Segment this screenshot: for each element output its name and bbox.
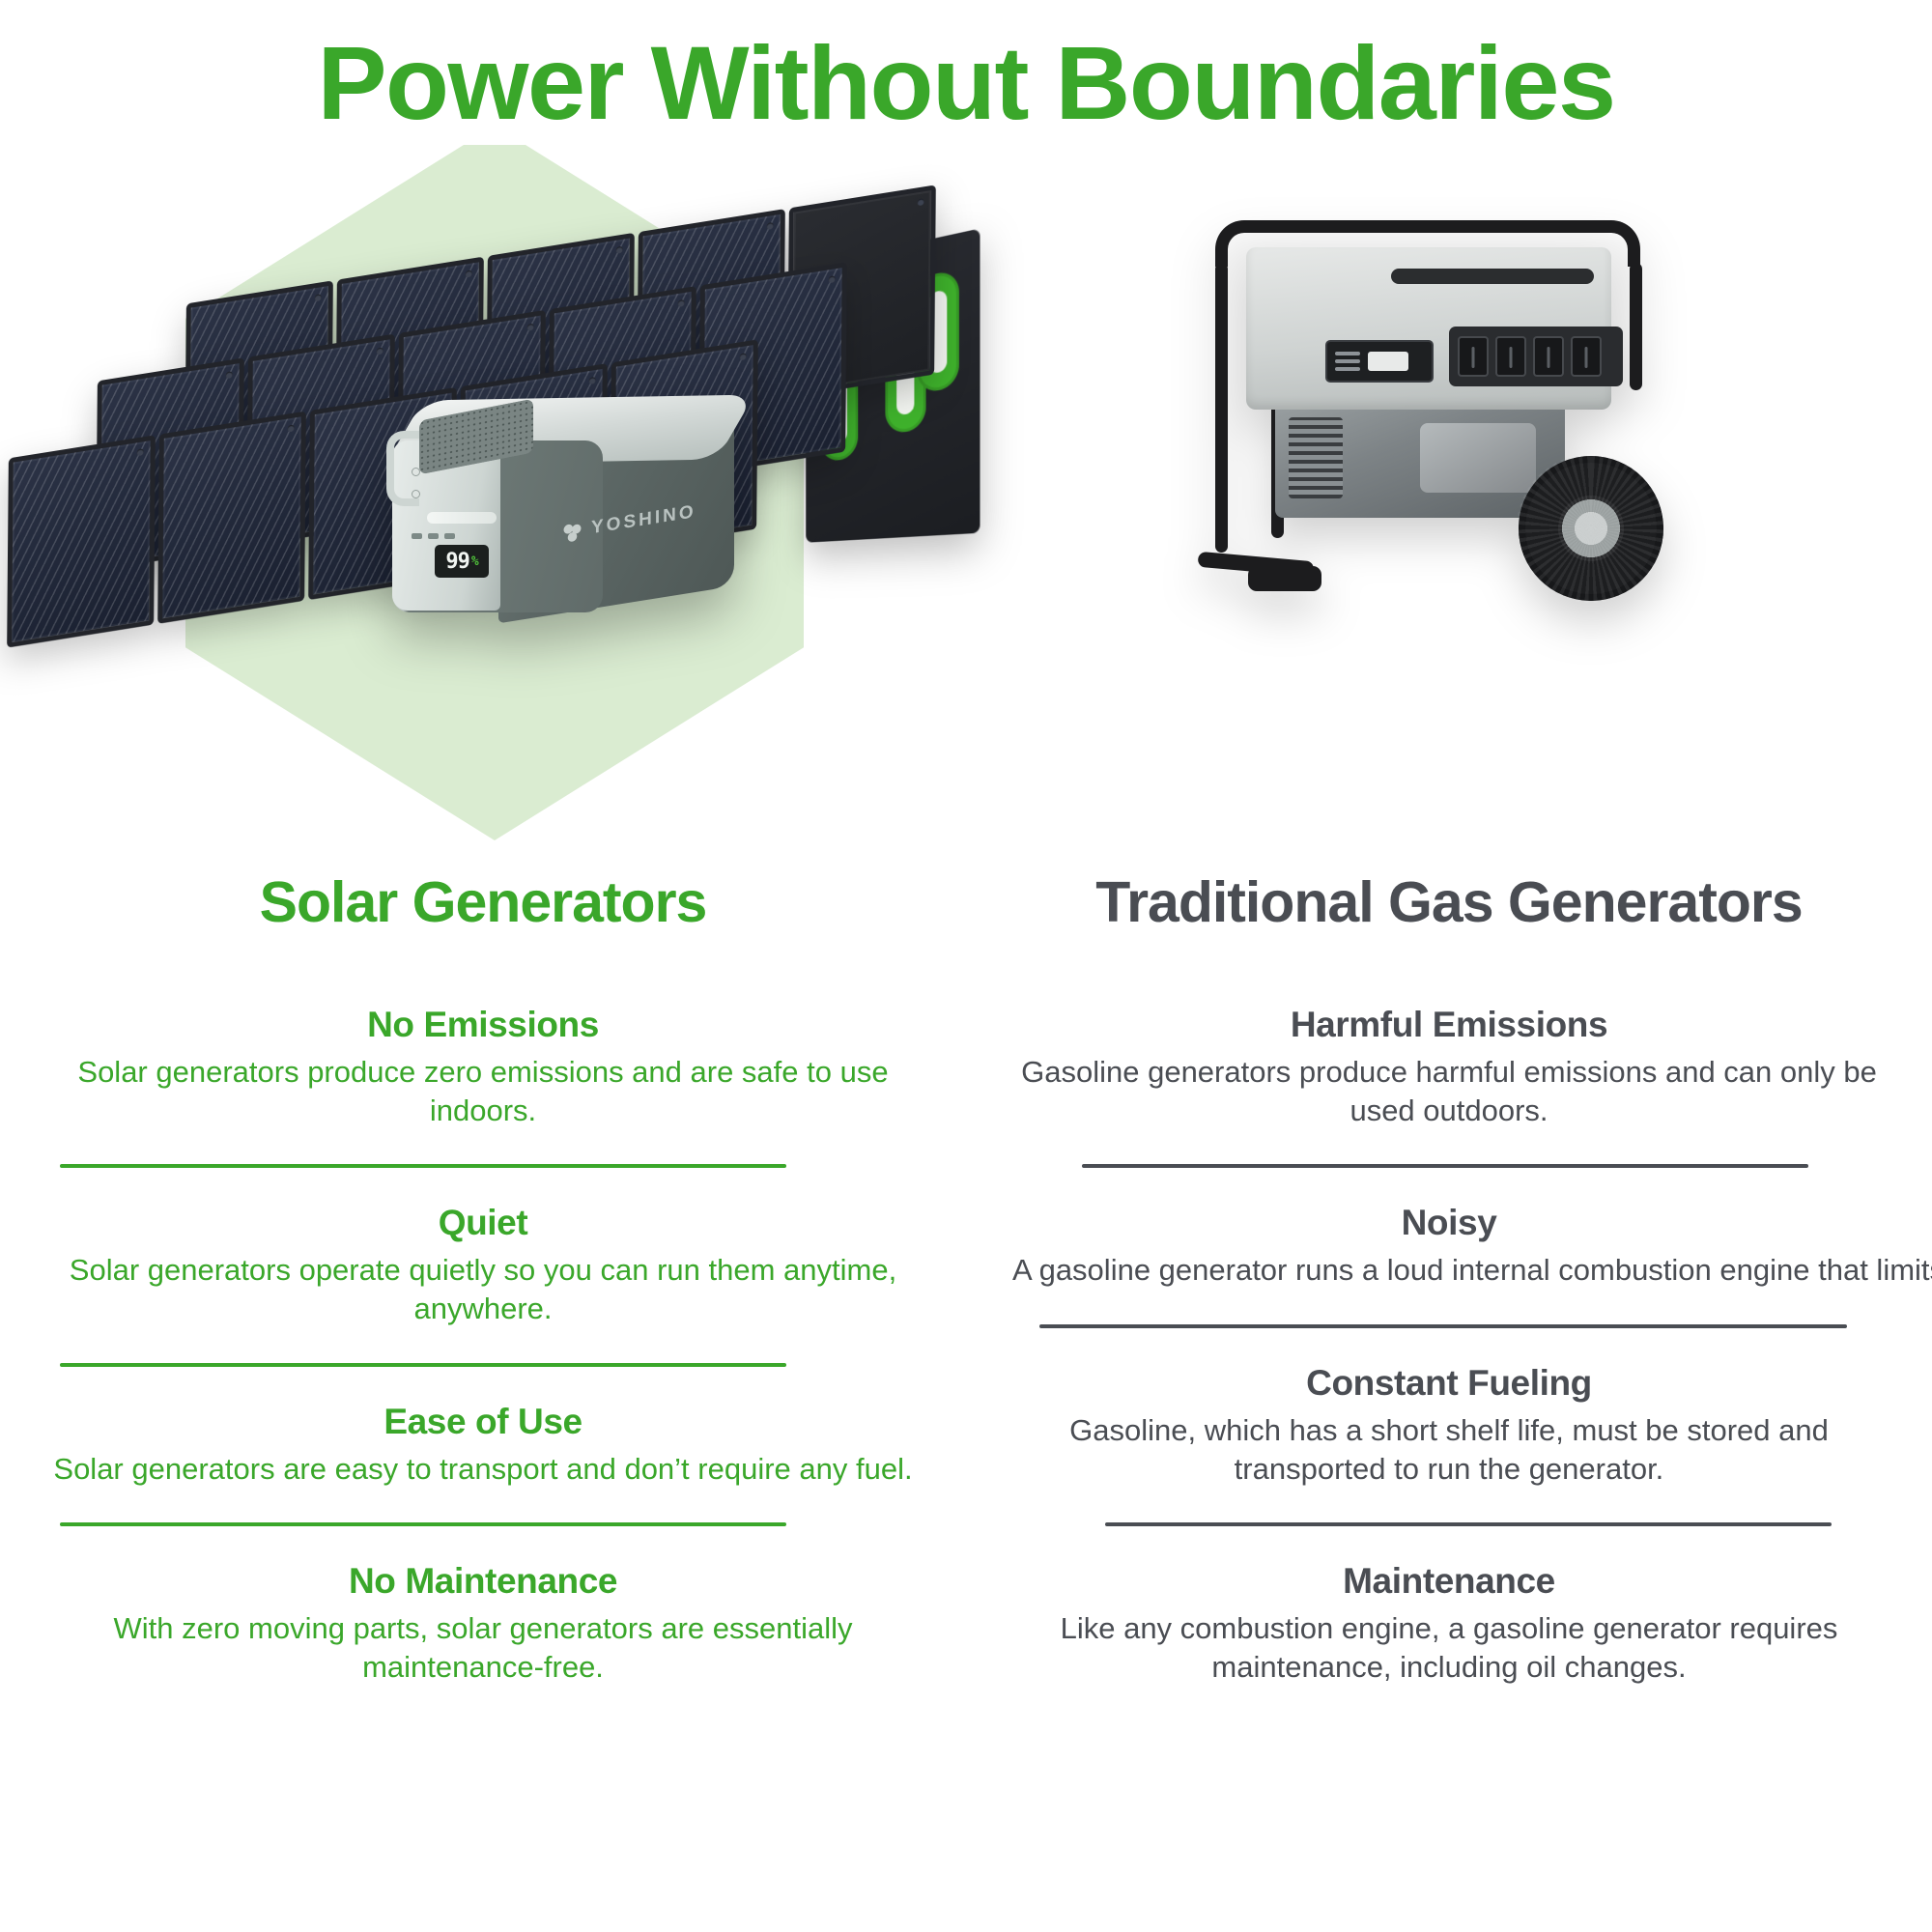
infographic-page: Power Without Boundaries bbox=[0, 0, 1932, 1932]
column-heading-gas: Traditional Gas Generators bbox=[1012, 869, 1886, 935]
feature-description: Solar generators operate quietly so you … bbox=[46, 1251, 920, 1327]
generator-control-gauge bbox=[1325, 340, 1434, 383]
feature-description: With zero moving parts, solar generators… bbox=[46, 1609, 920, 1686]
feature-divider bbox=[1105, 1522, 1832, 1526]
feature-title: No Emissions bbox=[46, 1005, 920, 1045]
feature-gas-harmful-emissions: Harmful Emissions Gasoline generators pr… bbox=[1012, 1005, 1886, 1129]
power-station-usb-ports bbox=[412, 533, 455, 539]
power-station-handle-icon bbox=[386, 431, 419, 506]
power-outlet-icon bbox=[1533, 336, 1564, 377]
generator-frame-leg bbox=[1215, 263, 1228, 553]
power-station-battery-display: 99 % bbox=[435, 545, 489, 578]
generator-housing bbox=[1246, 247, 1611, 410]
feature-title: Harmful Emissions bbox=[1012, 1005, 1886, 1045]
feature-solar-ease-of-use: Ease of Use Solar generators are easy to… bbox=[46, 1402, 920, 1489]
solar-panel-cell bbox=[7, 435, 156, 647]
generator-frame-leg bbox=[1630, 263, 1642, 390]
generator-outlet-panel bbox=[1449, 327, 1623, 386]
generator-support-foot bbox=[1248, 566, 1321, 591]
feature-solar-no-maintenance: No Maintenance With zero moving parts, s… bbox=[46, 1561, 920, 1686]
generator-fuel-cap-bar bbox=[1391, 269, 1594, 284]
feature-divider bbox=[60, 1363, 786, 1367]
feature-title: No Maintenance bbox=[46, 1561, 920, 1602]
comparison-columns: Solar Generators No Emissions Solar gene… bbox=[0, 869, 1932, 1932]
feature-solar-quiet: Quiet Solar generators operate quietly s… bbox=[46, 1203, 920, 1327]
battery-percent-value: 99 bbox=[445, 550, 469, 574]
gauge-readout-window bbox=[1368, 352, 1408, 371]
power-outlet-icon bbox=[1458, 336, 1489, 377]
feature-title: Constant Fueling bbox=[1012, 1363, 1886, 1404]
portable-power-station-image: 99 % YOSHINO bbox=[384, 388, 744, 628]
column-gas-generators: Traditional Gas Generators Harmful Emiss… bbox=[966, 869, 1932, 1932]
feature-description: Solar generators produce zero emissions … bbox=[46, 1053, 920, 1129]
feature-divider bbox=[1039, 1324, 1847, 1328]
feature-gas-maintenance: Maintenance Like any combustion engine, … bbox=[1012, 1561, 1886, 1686]
power-outlet-icon bbox=[1495, 336, 1526, 377]
generator-wheel bbox=[1519, 456, 1663, 601]
battery-percent-unit: % bbox=[471, 554, 478, 569]
hero-product-stage: 99 % YOSHINO bbox=[0, 145, 1932, 860]
power-station-light-bar bbox=[427, 512, 497, 524]
feature-description: Solar generators are easy to transport a… bbox=[46, 1450, 920, 1489]
feature-description: A gasoline generator runs a loud interna… bbox=[1012, 1251, 1886, 1290]
feature-divider bbox=[60, 1164, 786, 1168]
feature-title: Ease of Use bbox=[46, 1402, 920, 1442]
column-solar-generators: Solar Generators No Emissions Solar gene… bbox=[0, 869, 966, 1932]
feature-title: Quiet bbox=[46, 1203, 920, 1243]
solar-panel-cell bbox=[157, 412, 306, 624]
power-outlet-icon bbox=[1571, 336, 1602, 377]
feature-solar-no-emissions: No Emissions Solar generators produce ze… bbox=[46, 1005, 920, 1129]
feature-divider bbox=[1082, 1164, 1808, 1168]
feature-gas-constant-fueling: Constant Fueling Gasoline, which has a s… bbox=[1012, 1363, 1886, 1488]
feature-gas-noisy: Noisy A gasoline generator runs a loud i… bbox=[1012, 1203, 1886, 1290]
column-heading-solar: Solar Generators bbox=[46, 869, 920, 935]
feature-divider bbox=[60, 1522, 786, 1526]
feature-title: Noisy bbox=[1012, 1203, 1886, 1243]
feature-title: Maintenance bbox=[1012, 1561, 1886, 1602]
feature-description: Like any combustion engine, a gasoline g… bbox=[1012, 1609, 1886, 1686]
page-title: Power Without Boundaries bbox=[0, 27, 1932, 140]
feature-description: Gasoline, which has a short shelf life, … bbox=[1012, 1411, 1886, 1488]
yoshino-logo-icon bbox=[562, 520, 582, 543]
gas-generator-image bbox=[1188, 213, 1671, 618]
gauge-bars-icon bbox=[1335, 352, 1360, 371]
feature-description: Gasoline generators produce harmful emis… bbox=[1012, 1053, 1886, 1129]
